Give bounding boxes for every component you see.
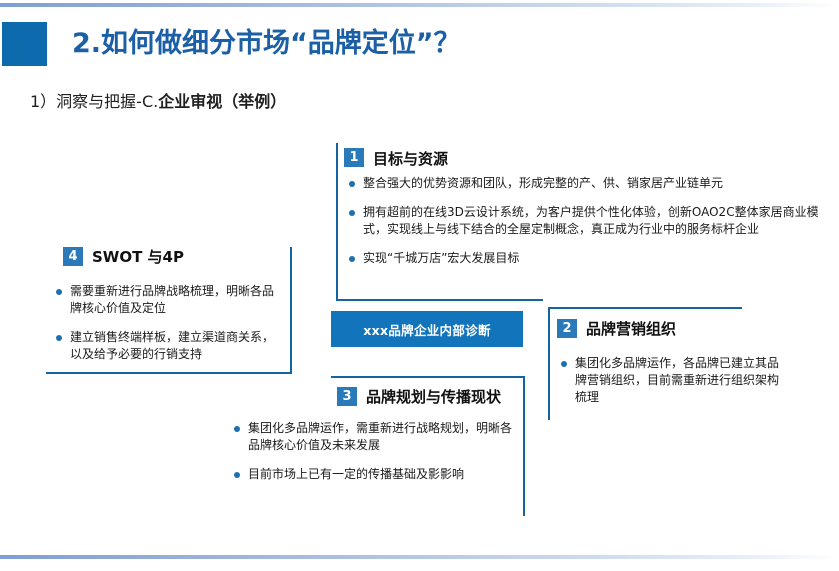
panel-3-top-border [331, 376, 525, 378]
panel-2-title: 品牌营销组织 [586, 318, 676, 339]
panel-1-badge: 1 [344, 148, 364, 167]
panel-2-bullets: 集团化多品牌运作，各品牌已建立其品牌营销组织，目前需重新进行组织架构梳理 [560, 355, 780, 406]
slide-subtitle-strong: 企业审视（举例） [158, 92, 286, 111]
slide-subtitle-lead: 1）洞察与把握-C. [30, 92, 158, 111]
list-item: 拥有超前的在线3D云设计系统，为客户提供个性化体验，创新OAO2C整体家居商业模… [348, 204, 826, 238]
panel-1-title: 目标与资源 [373, 148, 448, 169]
panel-1-left-border [336, 143, 338, 301]
list-item: 集团化多品牌运作，需重新进行战略规划，明晰各品牌核心价值及未来发展 [233, 420, 515, 454]
panel-4-badge: 4 [63, 247, 83, 266]
list-item: 整合强大的优势资源和团队，形成完整的产、供、销家居产业链单元 [348, 175, 826, 192]
slide-subtitle: 1）洞察与把握-C.企业审视（举例） [30, 88, 286, 112]
list-item: 实现“千城万店”宏大发展目标 [348, 250, 826, 267]
panel-4-title: SWOT 与4P [92, 246, 184, 267]
panel-4-bullets: 需要重新进行品牌战略梳理，明晰各品牌核心价值及定位 建立销售终端样板，建立渠道商… [55, 283, 280, 363]
header-accent-square [2, 22, 47, 66]
list-item: 需要重新进行品牌战略梳理，明晰各品牌核心价值及定位 [55, 283, 280, 317]
panel-4-right-border [290, 247, 292, 374]
center-diagnosis-chip[interactable]: xxx品牌企业内部诊断 [331, 311, 523, 347]
panel-3-badge: 3 [337, 387, 357, 406]
panel-2-left-border [548, 307, 550, 420]
panel-2-badge: 2 [557, 319, 577, 338]
panel-1-bullets: 整合强大的优势资源和团队，形成完整的产、供、销家居产业链单元 拥有超前的在线3D… [348, 175, 826, 267]
panel-1-bottom-border [336, 299, 543, 301]
page-title: 2.如何做细分市场“品牌定位”？ [72, 21, 461, 60]
bottom-gradient-rule [0, 555, 839, 559]
top-gradient-rule [0, 3, 839, 7]
list-item: 集团化多品牌运作，各品牌已建立其品牌营销组织，目前需重新进行组织架构梳理 [560, 355, 780, 406]
panel-4-bottom-border [46, 372, 292, 374]
panel-2-top-border [548, 307, 742, 309]
list-item: 建立销售终端样板，建立渠道商关系，以及给予必要的行销支持 [55, 329, 280, 363]
panel-3-title: 品牌规划与传播现状 [366, 386, 501, 407]
panel-3-right-border [523, 376, 525, 516]
slide-canvas: 2.如何做细分市场“品牌定位”？ 1）洞察与把握-C.企业审视（举例） 1 目标… [0, 0, 839, 571]
panel-3-bullets: 集团化多品牌运作，需重新进行战略规划，明晰各品牌核心价值及未来发展 目前市场上已… [233, 420, 515, 483]
list-item: 目前市场上已有一定的传播基础及影影响 [233, 466, 515, 483]
